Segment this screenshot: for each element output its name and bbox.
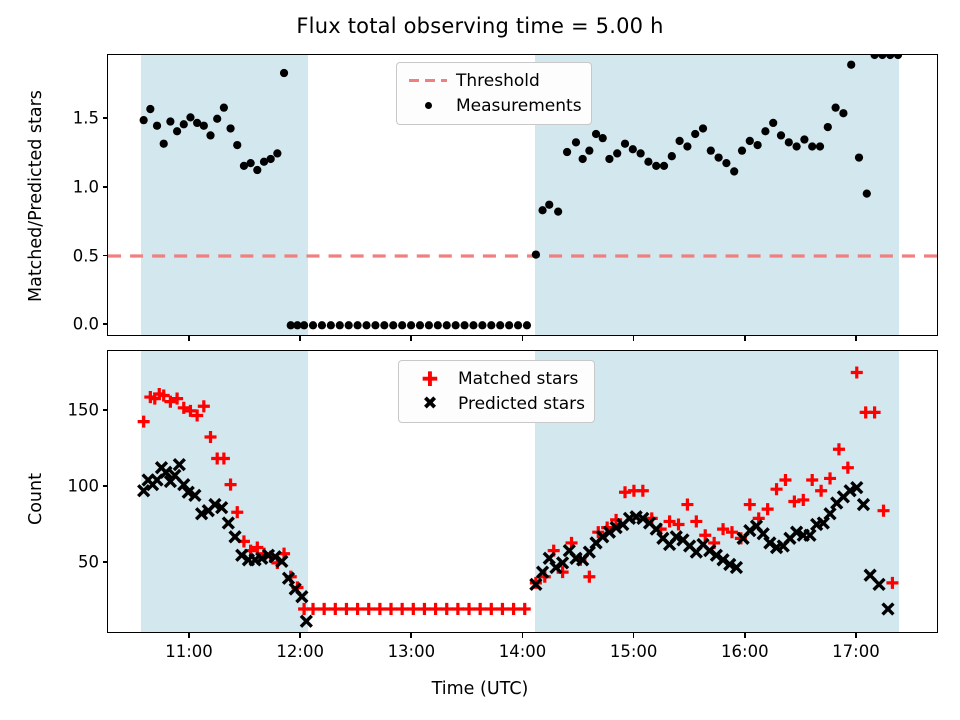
data-point bbox=[213, 115, 221, 123]
data-point bbox=[160, 140, 168, 148]
data-point bbox=[585, 147, 593, 155]
x-tick bbox=[410, 632, 412, 638]
y-tick-label: 150 bbox=[39, 400, 99, 419]
data-point bbox=[463, 603, 475, 615]
data-point bbox=[544, 553, 555, 564]
data-point bbox=[443, 321, 451, 329]
data-point bbox=[847, 61, 855, 69]
data-point bbox=[487, 321, 495, 329]
data-point bbox=[140, 116, 148, 124]
data-point bbox=[318, 321, 326, 329]
data-point bbox=[309, 321, 317, 329]
data-point bbox=[186, 113, 194, 121]
dashed-line-icon bbox=[406, 79, 450, 82]
data-point bbox=[691, 130, 699, 138]
y-tick-label: 1.0 bbox=[39, 177, 99, 196]
data-point bbox=[220, 104, 228, 112]
data-point bbox=[407, 321, 415, 329]
data-point bbox=[769, 119, 777, 127]
legend-row-threshold: Threshold bbox=[406, 68, 582, 93]
data-point bbox=[563, 148, 571, 156]
data-point bbox=[146, 105, 154, 113]
data-point bbox=[629, 145, 637, 153]
legend-row-measurements: Measurements bbox=[406, 93, 582, 118]
data-point bbox=[699, 124, 707, 132]
data-point bbox=[858, 499, 869, 510]
data-point bbox=[301, 616, 312, 627]
data-point bbox=[138, 485, 149, 496]
data-point bbox=[352, 603, 364, 615]
data-point bbox=[815, 485, 827, 497]
data-point bbox=[389, 321, 397, 329]
x-tick bbox=[744, 632, 746, 638]
data-point bbox=[425, 321, 433, 329]
x-tick-label: 12:00 bbox=[276, 642, 324, 661]
count-y-axis-label: Count bbox=[26, 473, 46, 525]
data-point bbox=[230, 531, 241, 542]
x-tick-label: 17:00 bbox=[832, 642, 880, 661]
x-tick bbox=[522, 335, 524, 341]
data-point bbox=[824, 123, 832, 131]
data-point bbox=[883, 604, 894, 615]
data-point bbox=[621, 140, 629, 148]
x-tick-label: 13:00 bbox=[388, 642, 436, 661]
data-point bbox=[738, 147, 746, 155]
matplotlib-figure: Flux total observing time = 5.00 h 0.00.… bbox=[0, 0, 960, 720]
data-point bbox=[545, 201, 553, 209]
x-tick-label: 14:00 bbox=[499, 642, 547, 661]
data-point bbox=[327, 321, 335, 329]
data-point bbox=[469, 321, 477, 329]
series-predicted-stars bbox=[138, 459, 893, 627]
y-tick bbox=[103, 561, 109, 563]
data-point bbox=[652, 162, 660, 170]
data-point bbox=[805, 530, 816, 541]
data-point bbox=[452, 603, 464, 615]
x-tick-label: 15:00 bbox=[610, 642, 658, 661]
x-tick bbox=[188, 335, 190, 341]
data-point bbox=[532, 250, 540, 258]
data-point bbox=[174, 459, 185, 470]
legend-label-matched: Matched stars bbox=[452, 369, 578, 389]
y-tick-label: 1.5 bbox=[39, 108, 99, 127]
data-point bbox=[538, 206, 546, 214]
data-point bbox=[300, 321, 308, 329]
data-point bbox=[644, 158, 652, 166]
data-point bbox=[273, 149, 281, 157]
data-point bbox=[418, 603, 430, 615]
ratio-y-axis-label: Matched/Predicted stars bbox=[26, 90, 46, 302]
data-point bbox=[223, 518, 234, 529]
data-point bbox=[863, 189, 871, 197]
data-point bbox=[785, 138, 793, 146]
data-point bbox=[777, 131, 785, 139]
data-point bbox=[870, 55, 878, 59]
data-point bbox=[851, 366, 863, 378]
cross-marker-icon: ✖ bbox=[408, 395, 452, 413]
data-point bbox=[371, 321, 379, 329]
data-point bbox=[825, 508, 836, 519]
data-point bbox=[514, 321, 522, 329]
legend-label-predicted: Predicted stars bbox=[452, 394, 585, 414]
y-tick-label: 100 bbox=[39, 477, 99, 496]
data-point bbox=[855, 153, 863, 161]
data-point bbox=[362, 321, 370, 329]
data-point bbox=[613, 149, 621, 157]
data-point bbox=[336, 321, 344, 329]
data-point bbox=[878, 55, 886, 59]
count-legend: ✚ Matched stars ✖ Predicted stars bbox=[398, 360, 595, 423]
data-point bbox=[505, 321, 513, 329]
data-point bbox=[225, 479, 237, 491]
data-point bbox=[816, 142, 824, 150]
x-tick bbox=[188, 632, 190, 638]
data-point bbox=[474, 603, 486, 615]
x-tick bbox=[855, 335, 857, 341]
data-point bbox=[779, 474, 791, 486]
data-point bbox=[180, 120, 188, 128]
data-point bbox=[690, 515, 702, 527]
data-point bbox=[761, 127, 769, 135]
data-point bbox=[153, 122, 161, 130]
data-point bbox=[637, 485, 649, 497]
data-point bbox=[200, 122, 208, 130]
ratio-legend: Threshold Measurements bbox=[396, 62, 592, 125]
data-point bbox=[874, 579, 885, 590]
data-point bbox=[668, 152, 676, 160]
data-point bbox=[441, 603, 453, 615]
data-point bbox=[380, 321, 388, 329]
data-point bbox=[198, 400, 210, 412]
x-tick bbox=[855, 632, 857, 638]
data-point bbox=[839, 109, 847, 117]
data-point bbox=[247, 159, 255, 167]
data-point bbox=[572, 138, 580, 146]
data-point bbox=[730, 167, 738, 175]
data-point bbox=[280, 69, 288, 77]
data-point bbox=[166, 117, 174, 125]
data-point bbox=[675, 137, 683, 145]
x-tick-label: 11:00 bbox=[165, 642, 213, 661]
data-point bbox=[699, 529, 711, 541]
data-point bbox=[363, 603, 375, 615]
data-point bbox=[407, 603, 419, 615]
legend-label-threshold: Threshold bbox=[450, 71, 540, 91]
data-point bbox=[771, 483, 783, 495]
data-point bbox=[554, 208, 562, 216]
plus-marker-icon: ✚ bbox=[408, 369, 452, 389]
data-point bbox=[267, 155, 275, 163]
data-point bbox=[599, 134, 607, 142]
y-tick bbox=[103, 323, 109, 325]
data-point bbox=[218, 452, 230, 464]
data-point bbox=[307, 603, 319, 615]
data-point bbox=[329, 603, 341, 615]
data-point bbox=[824, 472, 836, 484]
data-point bbox=[753, 141, 761, 149]
data-point bbox=[722, 159, 730, 167]
data-point bbox=[231, 506, 243, 518]
x-axis-label: Time (UTC) bbox=[0, 679, 960, 699]
data-point bbox=[416, 321, 424, 329]
data-point bbox=[353, 321, 361, 329]
legend-label-measurements: Measurements bbox=[450, 96, 582, 116]
data-point bbox=[605, 155, 613, 163]
data-point bbox=[204, 431, 216, 443]
data-point bbox=[340, 603, 352, 615]
data-point bbox=[374, 603, 386, 615]
data-point bbox=[894, 55, 902, 59]
x-tick bbox=[299, 632, 301, 638]
x-tick bbox=[633, 335, 635, 341]
data-point bbox=[707, 147, 715, 155]
x-tick bbox=[522, 632, 524, 638]
figure-title: Flux total observing time = 5.00 h bbox=[0, 14, 960, 38]
y-tick-label: 0.5 bbox=[39, 246, 99, 265]
data-point bbox=[226, 124, 234, 132]
data-point bbox=[173, 127, 181, 135]
data-point bbox=[762, 503, 774, 515]
x-tick bbox=[410, 335, 412, 341]
data-point bbox=[253, 166, 261, 174]
data-point bbox=[758, 528, 769, 539]
data-point bbox=[683, 142, 691, 150]
data-point bbox=[831, 104, 839, 112]
data-point bbox=[714, 153, 722, 161]
data-point bbox=[318, 603, 330, 615]
data-point bbox=[681, 499, 693, 511]
data-point bbox=[886, 577, 898, 589]
data-point bbox=[485, 603, 497, 615]
data-point bbox=[792, 142, 800, 150]
data-point bbox=[519, 603, 531, 615]
data-point bbox=[434, 321, 442, 329]
data-point bbox=[744, 499, 756, 511]
data-point bbox=[523, 321, 531, 329]
legend-row-matched: ✚ Matched stars bbox=[408, 366, 585, 391]
data-point bbox=[233, 141, 241, 149]
data-point bbox=[637, 149, 645, 157]
legend-row-predicted: ✖ Predicted stars bbox=[408, 391, 585, 416]
data-point bbox=[869, 406, 881, 418]
y-tick bbox=[103, 117, 109, 119]
y-tick bbox=[103, 186, 109, 188]
data-point bbox=[478, 321, 486, 329]
data-point bbox=[206, 131, 214, 139]
data-point bbox=[385, 603, 397, 615]
x-tick-label: 16:00 bbox=[721, 642, 769, 661]
data-point bbox=[808, 142, 816, 150]
data-point bbox=[842, 462, 854, 474]
y-tick bbox=[103, 255, 109, 257]
data-point bbox=[797, 494, 809, 506]
data-point bbox=[800, 135, 808, 143]
dot-marker-icon bbox=[406, 102, 450, 109]
x-tick bbox=[299, 335, 301, 341]
data-point bbox=[345, 321, 353, 329]
data-point bbox=[296, 591, 307, 602]
data-point bbox=[660, 162, 668, 170]
data-point bbox=[878, 505, 890, 517]
y-tick bbox=[103, 409, 109, 411]
data-point bbox=[452, 321, 460, 329]
data-point bbox=[886, 55, 894, 59]
data-point bbox=[583, 571, 595, 583]
data-point bbox=[833, 443, 845, 455]
data-point bbox=[430, 603, 442, 615]
data-point bbox=[584, 547, 595, 558]
y-tick-label: 50 bbox=[39, 553, 99, 572]
data-point bbox=[746, 137, 754, 145]
y-tick-label: 0.0 bbox=[39, 315, 99, 334]
data-point bbox=[496, 321, 504, 329]
x-tick bbox=[633, 632, 635, 638]
y-tick bbox=[103, 485, 109, 487]
data-point bbox=[806, 474, 818, 486]
data-point bbox=[396, 603, 408, 615]
data-point bbox=[496, 603, 508, 615]
data-point bbox=[579, 155, 587, 163]
data-point bbox=[508, 603, 520, 615]
data-point bbox=[398, 321, 406, 329]
x-tick bbox=[744, 335, 746, 341]
data-point bbox=[138, 416, 150, 428]
data-point bbox=[460, 321, 468, 329]
